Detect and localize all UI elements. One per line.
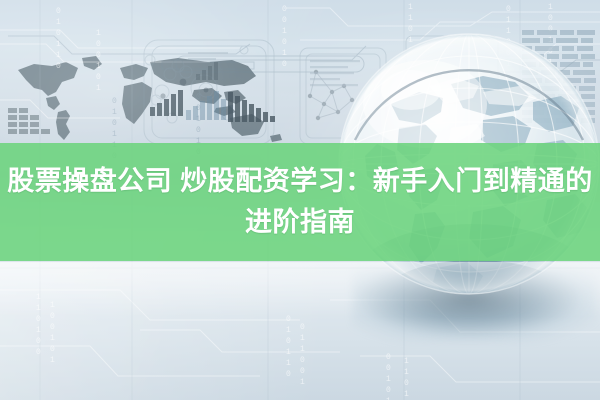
headline-line-2: 进阶指南 xyxy=(245,202,355,243)
banner-image: 0 1 0 1 1 0 1 0 0 1 0 1 0 0 1 0 1 0 1 1 … xyxy=(0,0,600,400)
page-title: 股票操盘公司 炒股配资学习：新手入门到精通的 进阶指南 xyxy=(0,143,600,261)
headline-line-1: 股票操盘公司 炒股配资学习：新手入门到精通的 xyxy=(7,161,593,202)
